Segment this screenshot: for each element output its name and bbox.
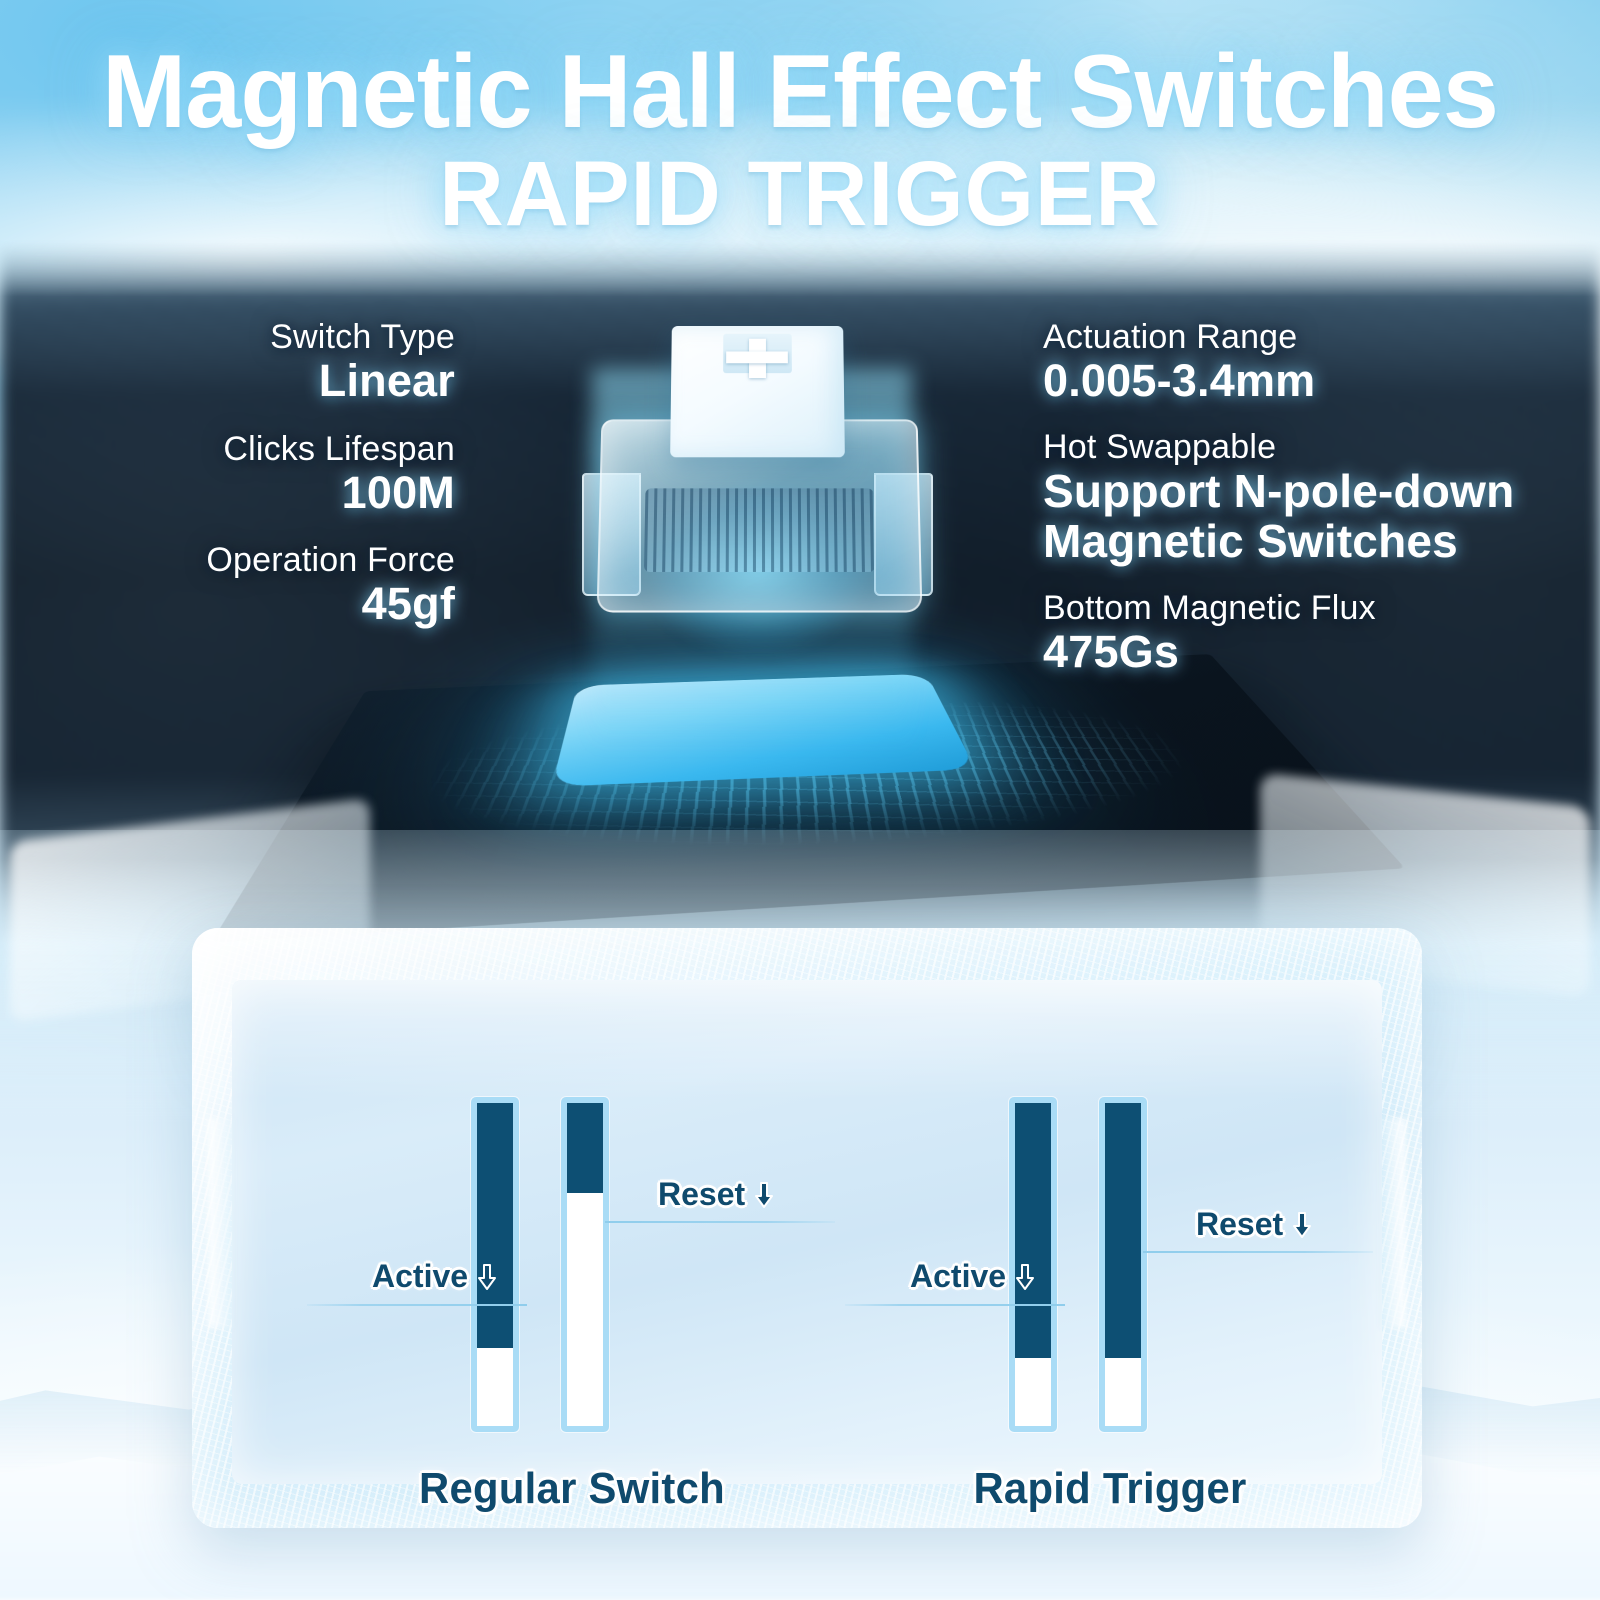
spec-value: 475Gs: [1043, 627, 1583, 677]
headline-line-2: RAPID TRIGGER: [24, 146, 1576, 243]
product-feature-graphic: Magnetic Hall Effect Switches RAPID TRIG…: [0, 0, 1600, 1600]
active-threshold-line: [845, 1304, 1065, 1306]
regular-release-bar: [561, 1097, 609, 1432]
bar-fill: [567, 1103, 603, 1193]
spec-value: 0.005-3.4mm: [1043, 356, 1583, 406]
active-label: Active: [372, 1258, 468, 1295]
spec-clicks-lifespan: Clicks Lifespan 100M: [0, 430, 455, 518]
rapid-trigger-comparison-diagram: Active Reset Regular Switch: [192, 928, 1422, 1528]
spec-actuation-range: Actuation Range 0.005-3.4mm: [1043, 318, 1583, 406]
headline-line-1: Magnetic Hall Effect Switches: [24, 40, 1576, 144]
spec-value: 45gf: [0, 579, 455, 629]
reset-threshold-line: [1143, 1251, 1373, 1253]
spec-hot-swappable: Hot Swappable Support N-pole-down Magnet…: [1043, 428, 1583, 567]
reset-tag: Reset: [1196, 1206, 1313, 1243]
spec-value: Support N-pole-down Magnetic Switches: [1043, 466, 1583, 567]
group-caption: Regular Switch: [373, 1464, 772, 1514]
spec-label: Clicks Lifespan: [0, 430, 455, 468]
comparison-group-regular-switch: Active Reset Regular Switch: [362, 928, 782, 1528]
arrow-down-icon: [1014, 1264, 1036, 1290]
reset-tag: Reset: [658, 1176, 775, 1213]
arrow-down-icon: [753, 1182, 775, 1208]
bar-fill: [1105, 1103, 1141, 1358]
spec-label: Bottom Magnetic Flux: [1043, 589, 1583, 627]
spec-bottom-magnetic-flux: Bottom Magnetic Flux 475Gs: [1043, 589, 1583, 677]
hall-effect-switch-render: [585, 318, 930, 648]
headline-block: Magnetic Hall Effect Switches RAPID TRIG…: [0, 40, 1600, 243]
stem-cross-horizontal: [727, 351, 789, 363]
reset-threshold-line: [605, 1221, 835, 1223]
reset-label: Reset: [658, 1176, 745, 1213]
spec-label: Hot Swappable: [1043, 428, 1583, 466]
comparison-group-rapid-trigger: Active Reset Rapid Trigger: [900, 928, 1320, 1528]
bar-fill: [477, 1103, 513, 1348]
switch-internals: [644, 488, 875, 572]
spec-value: 100M: [0, 468, 455, 518]
active-tag: Active: [910, 1258, 1036, 1295]
spec-column-right: Actuation Range 0.005-3.4mm Hot Swappabl…: [1043, 318, 1583, 700]
active-label: Active: [910, 1258, 1006, 1295]
spec-operation-force: Operation Force 45gf: [0, 541, 455, 629]
reset-label: Reset: [1196, 1206, 1283, 1243]
group-caption: Rapid Trigger: [911, 1464, 1310, 1514]
spec-label: Switch Type: [0, 318, 455, 356]
spec-switch-type: Switch Type Linear: [0, 318, 455, 406]
spec-label: Operation Force: [0, 541, 455, 579]
bar-fill: [1015, 1103, 1051, 1358]
arrow-down-icon: [1291, 1212, 1313, 1238]
switch-stem: [670, 326, 844, 457]
rapid-release-bar: [1099, 1097, 1147, 1432]
active-threshold-line: [307, 1304, 527, 1306]
spec-column-left: Switch Type Linear Clicks Lifespan 100M …: [0, 318, 455, 653]
spec-value: Linear: [0, 356, 455, 406]
active-tag: Active: [372, 1258, 498, 1295]
spec-label: Actuation Range: [1043, 318, 1583, 356]
arrow-down-icon: [476, 1264, 498, 1290]
